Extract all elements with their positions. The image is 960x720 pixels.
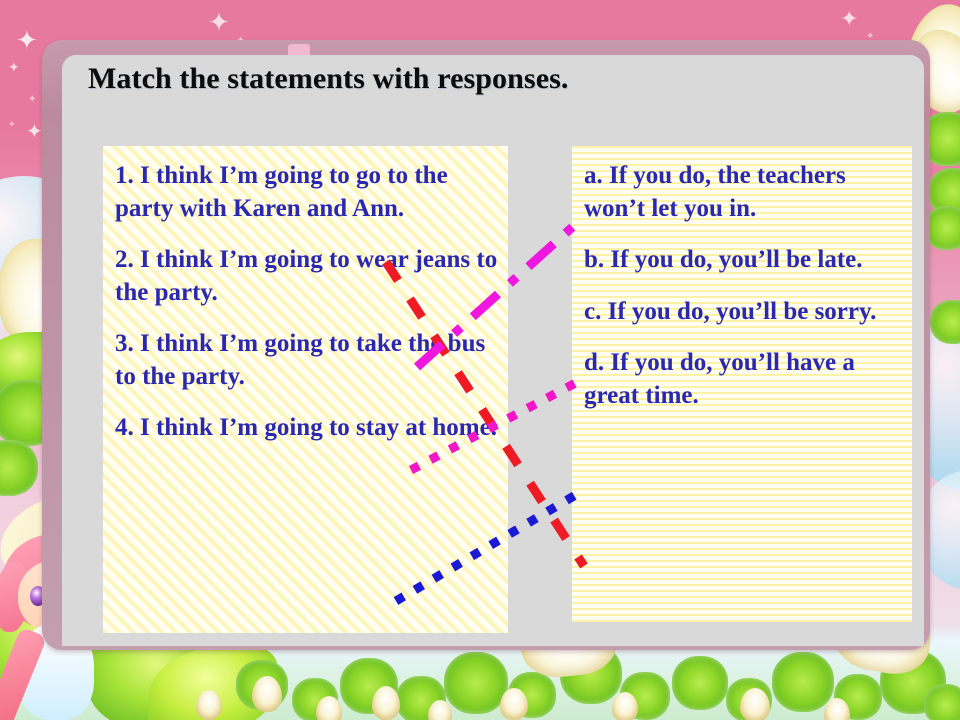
clover-flower	[372, 686, 400, 720]
sparkle-star: ✦	[8, 62, 20, 76]
clover-flower	[196, 690, 222, 720]
sparkle-star: ✦	[208, 10, 230, 36]
statement-item[interactable]: 3. I think I’m going to take the bus to …	[115, 328, 498, 393]
clover-flower	[252, 676, 282, 712]
clover-leaf	[672, 656, 728, 710]
response-item[interactable]: b. If you do, you’ll be late.	[584, 244, 902, 277]
clover-leaf	[444, 652, 508, 714]
sparkle-star: ✦	[26, 122, 43, 142]
clover-flower	[612, 692, 638, 720]
response-item[interactable]: a. If you do, the teachers won’t let you…	[584, 160, 902, 225]
sparkle-star: ✦	[840, 8, 858, 30]
responses-box: a. If you do, the teachers won’t let you…	[572, 146, 912, 622]
sparkle-star: ✦	[16, 28, 38, 54]
clover-flower	[740, 688, 770, 720]
clover-flower	[500, 688, 528, 720]
sparkle-star: ✦	[28, 95, 36, 105]
statement-item[interactable]: 4. I think I’m going to stay at home.	[115, 412, 498, 445]
statement-item[interactable]: 2. I think I’m going to wear jeans to th…	[115, 244, 498, 309]
statements-box: 1. I think I’m going to go to the party …	[103, 146, 508, 633]
clover-leaf	[772, 652, 834, 712]
response-item[interactable]: d. If you do, you’ll have a great time.	[584, 347, 902, 412]
sparkle-star: ✦	[8, 120, 16, 129]
statement-item[interactable]: 1. I think I’m going to go to the party …	[115, 160, 498, 225]
clover-leaf	[924, 684, 960, 720]
response-item[interactable]: c. If you do, you’ll be sorry.	[584, 296, 902, 329]
page-title: Match the statements with responses.	[88, 62, 569, 96]
